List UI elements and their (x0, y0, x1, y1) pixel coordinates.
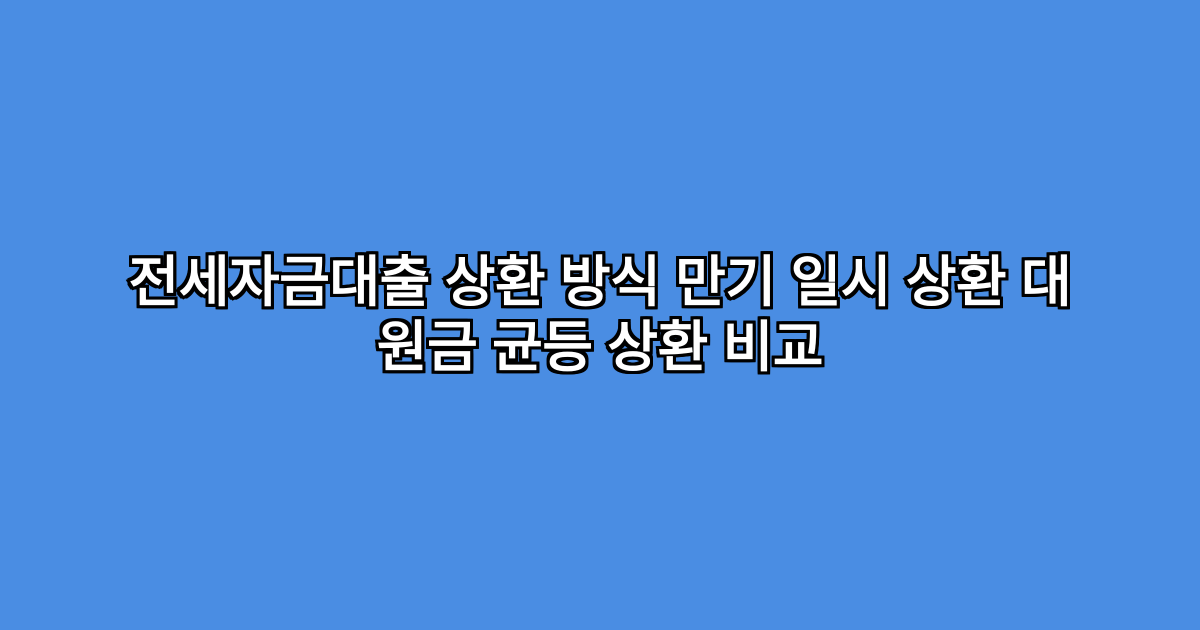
thumbnail-card: 전세자금대출 상환 방식 만기 일시 상환 대 원금 균등 상환 비교 (0, 0, 1200, 630)
title-container: 전세자금대출 상환 방식 만기 일시 상환 대 원금 균등 상환 비교 (80, 250, 1120, 380)
page-title: 전세자금대출 상환 방식 만기 일시 상환 대 원금 균등 상환 비교 (80, 250, 1120, 380)
